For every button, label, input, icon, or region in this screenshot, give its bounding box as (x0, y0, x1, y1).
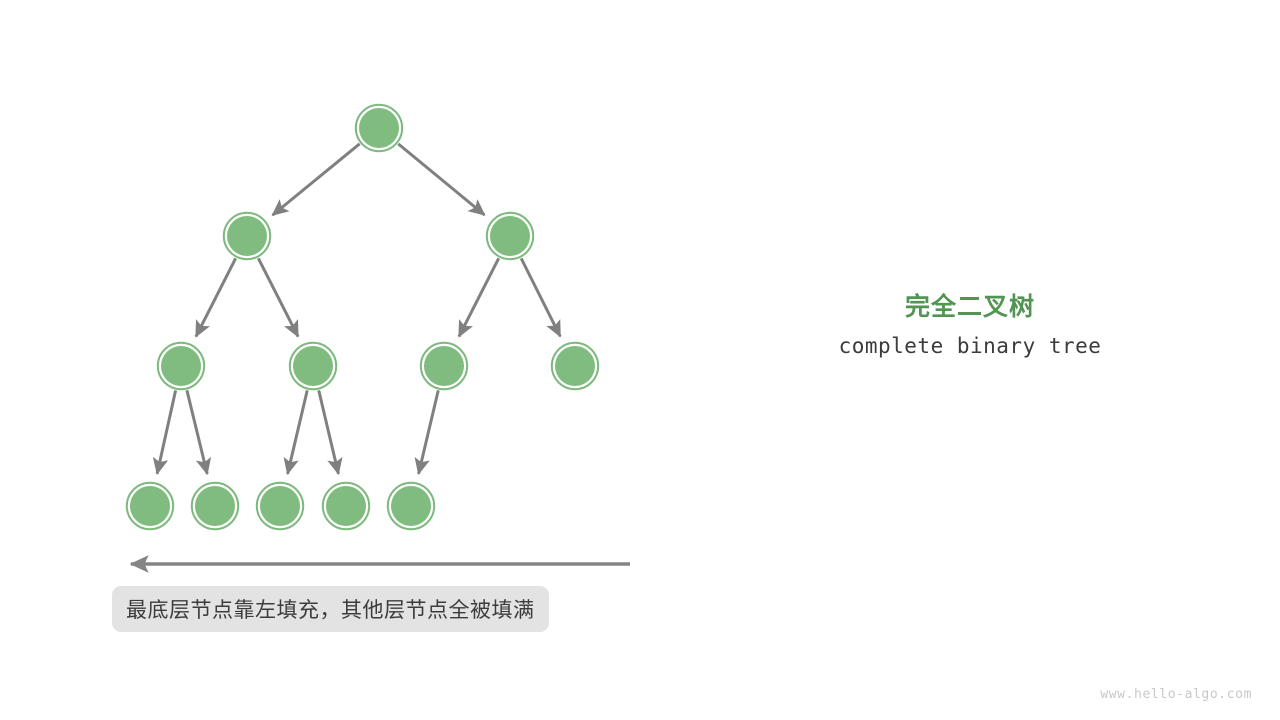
tree-node-core (293, 346, 333, 386)
tree-node[interactable] (257, 483, 303, 529)
tree-node[interactable] (290, 343, 336, 389)
tree-edge (521, 258, 560, 336)
tree-node[interactable] (323, 483, 369, 529)
tree-node[interactable] (192, 483, 238, 529)
tree-edges-layer (157, 144, 560, 474)
tree-node[interactable] (388, 483, 434, 529)
tree-nodes-layer (127, 105, 598, 529)
legend-title: 完全二叉树 (760, 292, 1180, 322)
tree-edge (419, 390, 439, 474)
tree-node-core (161, 346, 201, 386)
tree-node-core (359, 108, 399, 148)
tree-edge (258, 258, 298, 336)
tree-edge (459, 258, 499, 336)
tree-node-core (260, 486, 300, 526)
tree-edge (273, 144, 360, 215)
tree-node-core (195, 486, 235, 526)
tree-node[interactable] (127, 483, 173, 529)
watermark: www.hello-algo.com (1100, 687, 1252, 702)
tree-node[interactable] (224, 213, 270, 259)
legend-subtitle: complete binary tree (760, 334, 1180, 359)
tree-node[interactable] (487, 213, 533, 259)
tree-node[interactable] (421, 343, 467, 389)
caption-box: 最底层节点靠左填充，其他层节点全被填满 (112, 586, 549, 632)
tree-node-core (130, 486, 170, 526)
tree-node[interactable] (158, 343, 204, 389)
tree-node-core (227, 216, 267, 256)
tree-node-core (391, 486, 431, 526)
tree-node-core (555, 346, 595, 386)
tree-node-core (490, 216, 530, 256)
tree-edge (187, 390, 207, 474)
tree-node-core (326, 486, 366, 526)
tree-edge (288, 390, 308, 474)
tree-node[interactable] (552, 343, 598, 389)
tree-edge (157, 390, 175, 473)
legend-block: 完全二叉树 complete binary tree (760, 292, 1180, 359)
tree-edge (398, 144, 484, 215)
caption-text: 最底层节点靠左填充，其他层节点全被填满 (126, 594, 535, 624)
tree-edge (319, 390, 339, 474)
diagram-stage: 完全二叉树 complete binary tree 最底层节点靠左填充，其他层… (0, 0, 1280, 720)
tree-node-core (424, 346, 464, 386)
tree-edge (196, 258, 236, 336)
tree-node[interactable] (356, 105, 402, 151)
